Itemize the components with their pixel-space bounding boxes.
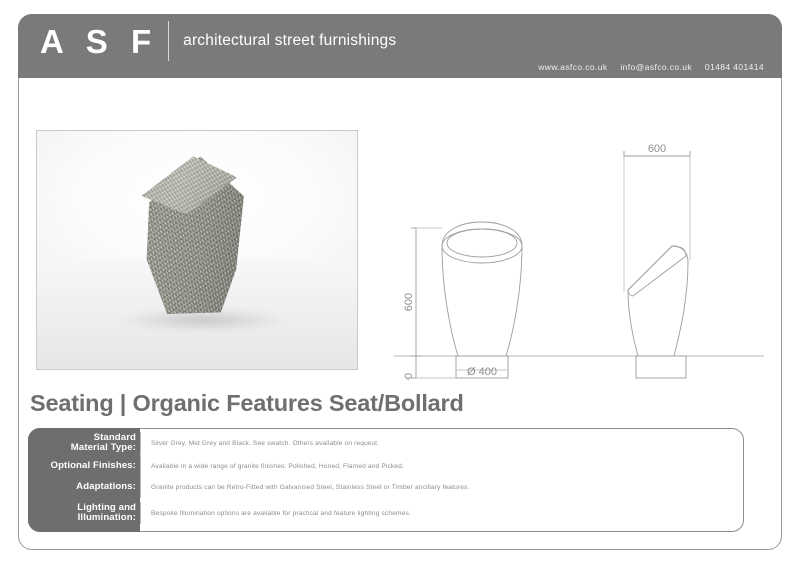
technical-drawings: 600 100 Ø 400 600 [390, 120, 768, 380]
front-height-label: 600 [403, 293, 415, 311]
spec-label: Lighting and Illumination: [28, 503, 140, 524]
spec-label-line1: Adaptations: [28, 482, 136, 493]
front-view-body [442, 222, 522, 356]
spec-label-line1: Optional Finishes: [28, 461, 136, 472]
front-diameter-label: Ø 400 [467, 366, 497, 378]
contact-phone: 01484 401414 [705, 62, 764, 72]
side-view-top-face [628, 246, 686, 296]
spec-table: Standard Material Type: Silver Grey, Mid… [28, 428, 744, 532]
spec-value: Bespoke Illumination options are availab… [140, 502, 744, 524]
spec-label: Adaptations: [28, 482, 140, 493]
table-row: Adaptations: Granite products can be Ret… [28, 476, 744, 498]
contact-website[interactable]: www.asfco.co.uk [538, 62, 607, 72]
spec-value: Granite products can be Retro-Fitted wit… [140, 476, 744, 498]
table-row: Optional Finishes: Available in a wide r… [28, 456, 744, 476]
front-view-rim-inner [447, 229, 517, 257]
table-row: Standard Material Type: Silver Grey, Mid… [28, 430, 744, 456]
spec-label: Optional Finishes: [28, 461, 140, 472]
spec-label-line2: Material Type: [28, 443, 136, 454]
contact-info: www.asfco.co.uk info@asfco.co.uk 01484 4… [528, 62, 764, 72]
logo-mark-asf: A S F [40, 25, 164, 58]
side-view-plinth [636, 356, 686, 378]
product-photo [36, 130, 358, 370]
side-view-body [628, 246, 688, 356]
contact-email[interactable]: info@asfco.co.uk [620, 62, 692, 72]
spec-label-line2: Illumination: [28, 513, 136, 524]
brand-tagline: architectural street furnishings [183, 32, 396, 50]
spec-label: Standard Material Type: [28, 433, 140, 454]
brand-logo: A S F architectural street furnishings [40, 20, 396, 62]
drawing-canvas: 600 100 Ø 400 600 [390, 120, 768, 380]
logo-divider [168, 21, 169, 61]
spec-value: Silver Grey, Mid Grey and Black. See swa… [140, 432, 744, 454]
page-title: Seating | Organic Features Seat/Bollard [30, 390, 464, 417]
front-depth-label: 100 [403, 373, 415, 380]
page-header: A S F architectural street furnishings w… [18, 14, 782, 78]
spec-value: Available in a wide range of granite fin… [140, 455, 744, 477]
side-width-label: 600 [648, 143, 666, 155]
table-row: Lighting and Illumination: Bespoke Illum… [28, 498, 744, 528]
